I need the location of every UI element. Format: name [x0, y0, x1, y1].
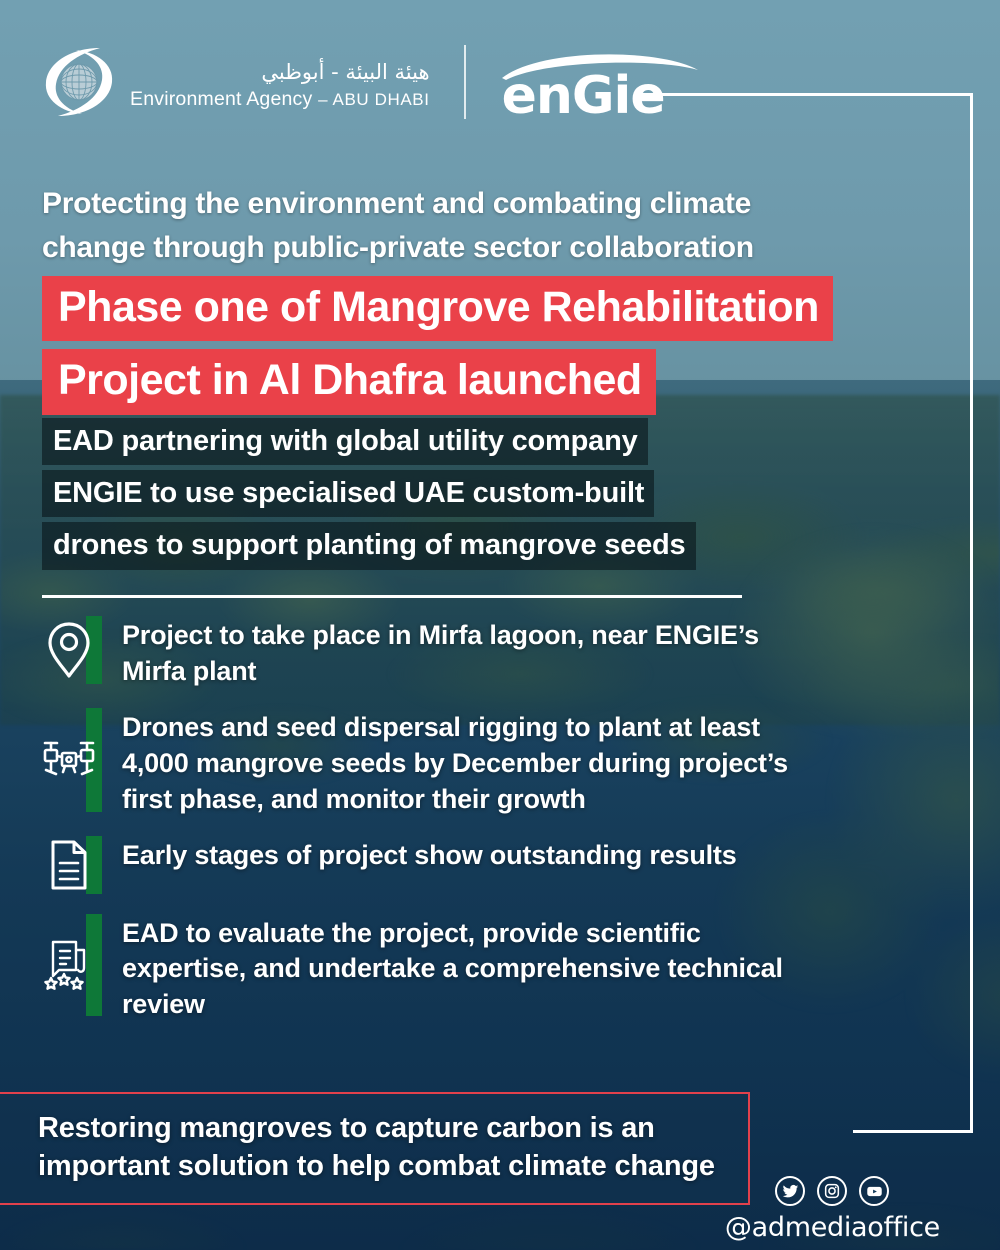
subheading-line-1: EAD partnering with global utility compa… — [42, 418, 648, 465]
bullet-icon-wrap — [36, 614, 102, 686]
ead-logo-text: هيئة البيئة - أبوظبي Environment Agency … — [130, 53, 430, 111]
headline-line-2: Project in Al Dhafra launched — [42, 349, 656, 414]
location-pin-icon — [47, 621, 91, 679]
ead-english-sub: – ABU DHABI — [318, 90, 429, 109]
page-title: Phase one of Mangrove Rehabilitation Pro… — [42, 276, 942, 423]
header-logos: هيئة البيئة - أبوظبي Environment Agency … — [42, 42, 700, 122]
social-icon-list — [725, 1176, 940, 1206]
ead-logo: هيئة البيئة - أبوظبي Environment Agency … — [42, 42, 430, 122]
list-item-label: Project to take place in Mirfa lagoon, n… — [102, 614, 826, 690]
instagram-camera-glyph — [824, 1183, 840, 1199]
social-footer: @admediaoffice — [725, 1176, 940, 1243]
list-item: Early stages of project show outstanding… — [36, 834, 826, 896]
review-rating-icon — [43, 936, 95, 994]
infographic-poster: هيئة البيئة - أبوظبي Environment Agency … — [0, 0, 1000, 1250]
subheading-line-3: drones to support planting of mangrove s… — [42, 522, 696, 569]
youtube-icon[interactable] — [859, 1176, 889, 1206]
ead-english-main: Environment Agency — [130, 88, 312, 110]
engie-logo: enGie — [500, 42, 700, 122]
bullet-icon-wrap — [36, 706, 102, 814]
frame-right-line — [970, 93, 973, 1133]
list-item: Project to take place in Mirfa lagoon, n… — [36, 614, 826, 690]
frame-bottom-right-bracket — [853, 1130, 973, 1133]
social-handle: @admediaoffice — [725, 1212, 940, 1243]
engie-wordmark: enGie — [502, 70, 665, 122]
callout-text: Restoring mangroves to capture carbon is… — [38, 1109, 730, 1186]
list-item: EAD to evaluate the project, provide sci… — [36, 912, 826, 1024]
instagram-icon[interactable] — [817, 1176, 847, 1206]
subheading: EAD partnering with global utility compa… — [42, 418, 762, 575]
header-divider — [464, 45, 466, 119]
subheading-line-2: ENGIE to use specialised UAE custom-buil… — [42, 470, 654, 517]
list-item-label: Drones and seed dispersal rigging to pla… — [102, 706, 826, 818]
ead-globe-eye-logo-icon — [42, 42, 116, 122]
bullet-icon-wrap — [36, 912, 102, 1018]
list-item-label: EAD to evaluate the project, provide sci… — [102, 912, 826, 1024]
youtube-play-glyph — [866, 1183, 883, 1200]
list-item: Drones and seed dispersal rigging to pla… — [36, 706, 826, 818]
ead-english-name: Environment Agency – ABU DHABI — [130, 88, 430, 111]
bullet-icon-wrap — [36, 834, 102, 896]
twitter-icon[interactable] — [775, 1176, 805, 1206]
document-icon — [49, 839, 89, 891]
drone-icon — [43, 738, 95, 782]
twitter-bird-glyph — [782, 1183, 799, 1200]
headline-line-1: Phase one of Mangrove Rehabilitation — [42, 276, 833, 341]
kicker-text: Protecting the environment and combating… — [42, 182, 832, 269]
list-item-label: Early stages of project show outstanding… — [102, 834, 737, 874]
section-divider — [42, 595, 742, 598]
ead-arabic-name: هيئة البيئة - أبوظبي — [130, 59, 430, 85]
bullet-list: Project to take place in Mirfa lagoon, n… — [36, 614, 826, 1039]
callout-box: Restoring mangroves to capture carbon is… — [0, 1092, 750, 1205]
